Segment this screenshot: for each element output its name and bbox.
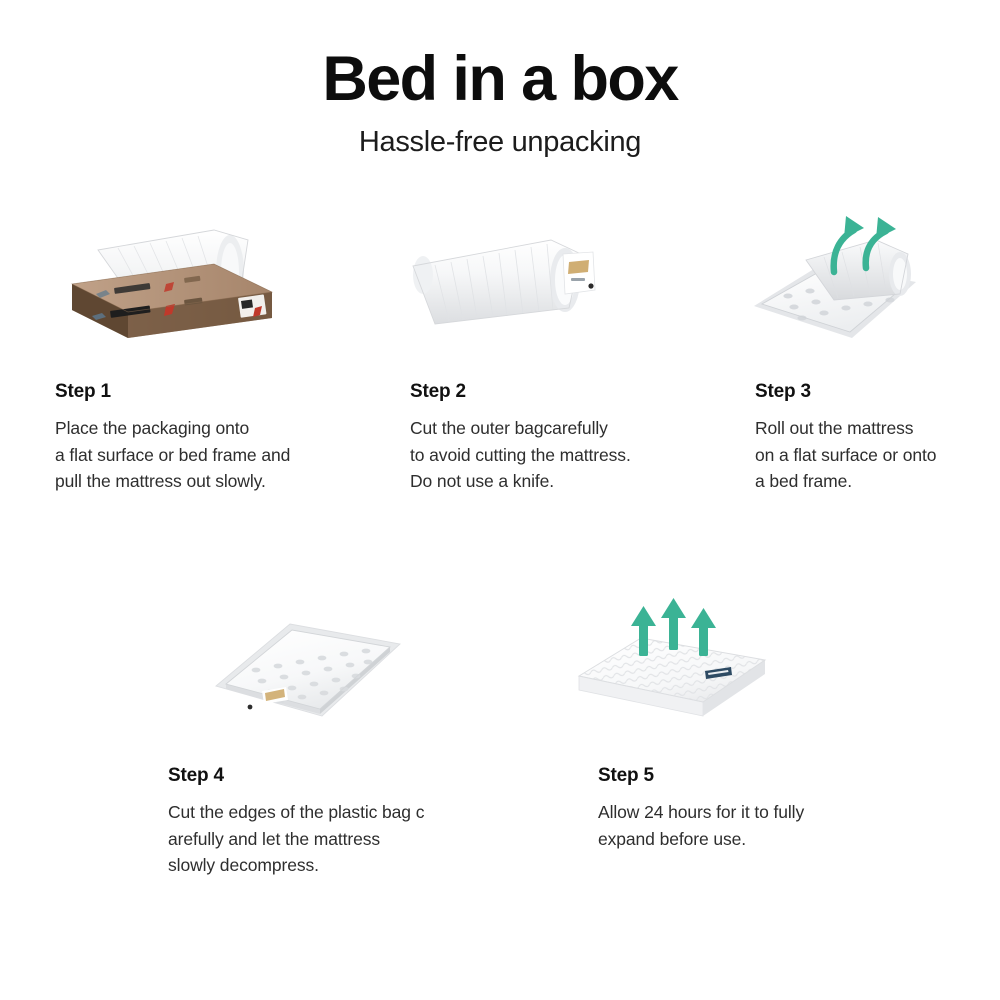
product-tag xyxy=(563,252,595,294)
step-4-heading: Step 4 xyxy=(168,765,488,787)
step-5-text-block: Step 5 Allow 24 hours for it to fully ex… xyxy=(598,765,898,852)
step-3-illustration xyxy=(748,212,938,347)
rolled-mattress-in-plastic-icon xyxy=(405,232,605,332)
mattress-box-with-roll-icon xyxy=(62,222,282,342)
step-1-heading: Step 1 xyxy=(55,381,385,403)
rolled-mattress-shape xyxy=(413,240,581,324)
page-title: Bed in a box xyxy=(0,46,1000,112)
step-2-heading: Step 2 xyxy=(410,381,730,403)
flat-wrapped-mattress-with-tag-icon xyxy=(210,608,405,728)
step-1-body: Place the packaging onto a flat surface … xyxy=(55,415,385,495)
step-1-text-block: Step 1 Place the packaging onto a flat s… xyxy=(55,381,385,495)
step-1-illustration xyxy=(62,222,282,342)
box-end-panel xyxy=(238,294,267,317)
step-5-body: Allow 24 hours for it to fully expand be… xyxy=(598,799,898,852)
step-4-text-block: Step 4 Cut the edges of the plastic bag … xyxy=(168,765,488,879)
expanded-mattress-with-up-arrows-icon xyxy=(575,598,770,720)
page-subtitle: Hassle-free unpacking xyxy=(0,126,1000,159)
step-5-illustration xyxy=(575,598,770,720)
step-2-body: Cut the outer bagcarefully to avoid cutt… xyxy=(410,415,730,495)
expansion-arrow-group xyxy=(631,598,716,656)
step-3-text-block: Step 3 Roll out the mattress on a flat s… xyxy=(755,381,990,495)
step-4-body: Cut the edges of the plastic bag c arefu… xyxy=(168,799,488,879)
partially-unrolled-mattress-with-curved-arrows-icon xyxy=(748,212,938,347)
step-2-illustration xyxy=(405,232,605,332)
step-2-text-block: Step 2 Cut the outer bagcarefully to avo… xyxy=(410,381,730,495)
step-3-body: Roll out the mattress on a flat surface … xyxy=(755,415,990,495)
header: Bed in a box Hassle-free unpacking xyxy=(0,46,1000,159)
step-3-heading: Step 3 xyxy=(755,381,990,403)
wrapped-mattress-shape xyxy=(216,624,400,716)
step-5-heading: Step 5 xyxy=(598,765,898,787)
step-4-illustration xyxy=(210,608,405,728)
